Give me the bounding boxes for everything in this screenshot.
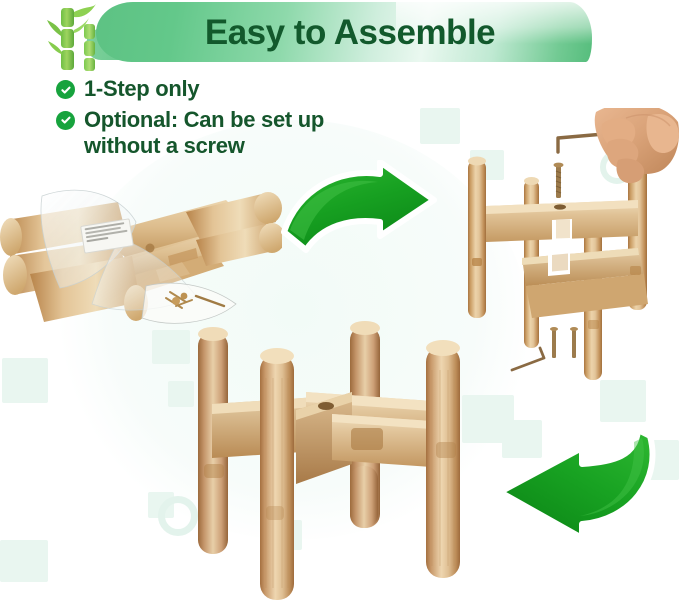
background-square	[600, 380, 646, 422]
page-title: Easy to Assemble	[140, 9, 560, 57]
arrow-to-assembled-icon	[486, 424, 666, 542]
arrow-to-assembly-icon	[276, 160, 446, 260]
assembled-plant-stand	[146, 318, 492, 600]
background-square	[0, 540, 48, 582]
feature-label: Optional: Can be set up without a screw	[84, 107, 324, 159]
list-item: 1-Step only	[56, 76, 426, 102]
flat-packed-bamboo-parts	[0, 178, 282, 328]
bamboo-icon	[46, 2, 124, 74]
check-circle-icon	[56, 80, 75, 99]
check-circle-icon	[56, 111, 75, 130]
background-square	[18, 372, 46, 402]
infographic-canvas: Easy to Assemble	[0, 0, 679, 600]
list-item: Optional: Can be set up without a screw	[56, 107, 426, 159]
feature-label: 1-Step only	[84, 76, 199, 102]
feature-list: 1-Step only Optional: Can be set up with…	[56, 76, 426, 164]
